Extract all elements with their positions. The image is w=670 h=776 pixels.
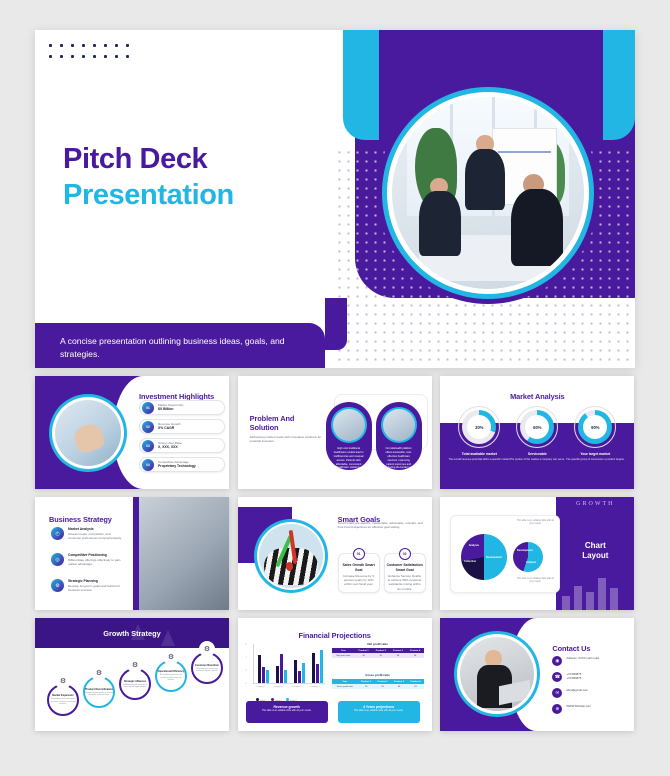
dartboard-photo [259,524,323,588]
smart-goal-card[interactable]: 01 Sales Growth Smart Goal Increase Reve… [338,553,380,593]
business-item-desc: Assess trends, competition, and consumer… [68,532,123,541]
problem-title-main: Problem And [250,414,324,423]
contact-row-address[interactable]: ◉ Address: XXXX main road. [552,656,599,666]
chart-layout-purple-panel: GROWTH Chart Layout [556,497,634,610]
growth-step[interactable]: ⚙ Product Diversification Introducing ne… [83,676,115,708]
contact-person-photo [460,637,534,711]
card-label: Customer Satisfaction Smart Goal [385,563,425,573]
growth-step[interactable]: ⚙ Strategic Alliances Collaborating with… [119,668,151,700]
contact-website-text: WWW.Website.com [566,704,591,708]
pie-label: Analysis [526,561,536,564]
donut-label-group: Serviceable The portion of the market a … [506,452,568,462]
financial-title-accent: Projections [332,631,371,640]
contact-title-accent: Us [581,644,590,653]
card-number-badge: 02 [399,548,411,560]
hero-cyan-right-shape [603,30,635,140]
globe-icon: ⊕ [552,704,562,714]
chart-layout-card: Development Analysis Collection Developm… [450,515,560,593]
hero-caption: A concise presentation outlining busines… [35,323,325,368]
y-tick-label: 4 [246,657,247,659]
step-desc: Collaborating with partners to boost gro… [121,684,149,689]
donut-label: Your target market [564,452,626,456]
item-value: X, XXX, XXX [158,445,182,450]
cta-desc: This slide is an editable slide with all… [338,710,420,713]
card-number-badge: 01 [353,548,365,560]
hero-photo-ring-white [387,92,589,294]
donut-chart-your-target-market: 90% [578,410,612,444]
pie-label: Analysis [469,544,479,547]
gross-profit-ratio-table: Gross profit ratio Year Product 1 Produc… [332,673,424,689]
slide-market-analysis[interactable]: Market Analysis 30% 60% 90% Total availa… [440,376,634,489]
investment-growth-photo [55,400,121,466]
gear-icon: ⚙ [55,673,71,689]
problem-title-block: Problem And Solution Addressing market n… [250,414,324,444]
decorative-bar-chart [562,566,618,610]
smart-goals-photo-ring [254,519,328,593]
hero-slide[interactable]: Pitch Deck Presentation A concise presen… [35,30,635,368]
cta-desc: This slide is an editable slide with all… [246,710,328,713]
hero-purple-tab-shape [325,298,347,350]
table-row: Net profit ratio 30 35 48 56 [332,653,424,658]
list-item[interactable]: 04 Competitive Advantage Proprietary Tec… [139,457,225,472]
contact-phone-text: +XXX89875 +XXX89875 [566,672,581,680]
solution-card-text: Our telehealth platform offers accessibl… [381,447,417,474]
item-value: Proprietary Technology [158,464,196,469]
contact-details-list: ◉ Address: XXXX main road. ☎ +XXX89875 +… [552,656,599,720]
table-cell: 56 [406,653,423,658]
market-title-accent: Analysis [535,392,565,401]
donut-label: Serviceable [506,452,568,456]
problem-subtitle: Addressing market needs with innovative … [250,435,324,444]
contact-title: Contact Us [552,638,590,656]
step-desc: Retaining loyal customers sustains long-… [193,668,221,673]
step-label: Customer Retention [195,664,219,667]
contact-row-website[interactable]: ⊕ WWW.Website.com [552,704,599,714]
chart-layout-title-line1: Chart [585,541,606,550]
chart-note-bottom: This slide is an editable slide with all… [515,578,555,585]
item-number-badge: 04 [142,459,154,471]
table-cell: 48 [389,653,406,658]
gear-icon: ⚙ [127,657,143,673]
business-item[interactable]: ◎ Competitive Positioning Differentiate … [51,553,123,566]
slide-thumbnail-grid: Investment Highlights 01 Market Opportun… [35,376,635,731]
table-cell: 53 [407,684,423,689]
donut-chart-serviceable: 60% [520,410,554,444]
hero-photo-ring-cyan [382,87,594,299]
pie-chart-small: Development Analysis [513,542,543,572]
x-tick-label: Category 2 [274,686,284,688]
business-item[interactable]: ◴ Market Analysis Assess trends, competi… [51,527,123,540]
y-tick-label: 6 [246,644,247,646]
slide-financial-projections[interactable]: Financial Projections Category 1 Categor… [238,618,432,731]
contact-row-email[interactable]: ✉ abcd@gmail.com [552,688,599,698]
gear-icon: ⚙ [163,649,179,665]
contact-title-main: Contact [552,644,581,653]
growth-watermark: GROWTH [556,501,634,507]
table-cell: 26 [374,684,390,689]
gear-icon: ⚙ [199,641,215,657]
list-item[interactable]: 01 Market Opportunity $X Billion [139,400,225,415]
plan-icon: ⚙ [51,579,64,592]
donut-label-group: Total available market The overall reven… [448,452,510,462]
presentation-template-preview: Pitch Deck Presentation A concise presen… [0,0,670,776]
step-desc: Expanding into new markets increases cus… [49,698,77,705]
donut-chart-total-available-market: 30% [462,410,496,444]
smart-goals-subtitle: Smart Goals are specific, measurable, ac… [338,521,424,530]
list-item[interactable]: 02 Revenue Growth X% CAGR [139,419,225,434]
y-tick-label: 2 [246,670,247,672]
pie-chart-large: Development Analysis Collection [461,534,507,580]
problem-card-text: High cost traditional healthcare models … [331,447,367,470]
hero-cyan-left-shape [343,30,379,140]
dot-pattern-decoration [45,40,135,60]
market-title: Market Analysis [440,386,634,404]
slide-smart-goals[interactable]: Smart Goals Smart Goals are specific, me… [238,497,432,610]
location-pin-icon: ◉ [552,656,562,666]
growth-step[interactable]: ⚙ Operational Efficiency Streamlining pr… [155,660,187,692]
x-tick-label: Category 3 [292,686,302,688]
business-item[interactable]: ⚙ Strategic Planning Develop long-term g… [51,579,123,592]
chart-note-top: This slide is an editable slide with all… [515,520,555,527]
growth-step[interactable]: ⚙ Market Expansion Expanding into new ma… [47,684,79,716]
table-cell: Net profit ratio [332,653,355,658]
business-title-main: Business [49,515,83,524]
target-icon: ◎ [51,553,64,566]
donut-desc: The portion of the market a company can … [506,458,568,462]
solution-photo [383,409,415,441]
pie-label: Development [517,549,533,552]
chart-layout-title: Chart Layout [556,541,634,562]
phone-icon: ☎ [552,672,562,682]
cta-label: Revenue growth [246,705,328,709]
contact-row-phone[interactable]: ☎ +XXX89875 +XXX89875 [552,672,599,682]
card-label: Sales Growth Smart Goal [339,563,379,573]
hero-photo-ring-outer [377,82,599,304]
four-years-projections-cta[interactable]: 4 Years projections This slide is an edi… [338,701,420,723]
investment-item-list: 01 Market Opportunity $X Billion 02 Reve… [139,400,225,476]
financial-title-main: Financial [299,631,332,640]
x-tick-label: Category 1 [256,686,266,688]
business-item-desc: Develop long-term goals and tactics for … [68,584,123,593]
chart-icon: ◴ [51,527,64,540]
table-cell: 35 [372,653,389,658]
smart-goal-card[interactable]: 02 Customer Satisfaction Smart Goal Enha… [384,553,426,593]
card-desc: Increase Revenue by X percent yearly by … [339,574,379,587]
contact-email-text: abcd@gmail.com [566,688,588,692]
chart-layout-title-line2: Layout [582,551,608,560]
list-item[interactable]: 03 Strong User Base X, XXX, XXX [139,438,225,453]
donut-desc: The specific group of consumers a produc… [564,458,626,462]
table-row: Gross profit ratio 20 26 48 53 [332,684,424,689]
financial-bar-chart: Category 1 Category 2 Category 3 Categor… [246,640,326,692]
pie-label: Collection [464,560,476,563]
item-number-badge: 03 [142,440,154,452]
business-team-photo [123,497,229,610]
card-desc: Enhance Service Quality to achieve 95% c… [385,574,425,591]
solution-card[interactable]: Our telehealth platform offers accessibl… [376,402,422,470]
hero-title: Pitch Deck Presentation [63,142,234,214]
item-number-badge: 01 [142,402,154,414]
step-desc: Streamlining processes for excellent pro… [157,674,185,681]
market-title-main: Market [510,392,535,401]
table-cell: 30 [355,653,372,658]
donut-label: Total available market [448,452,510,456]
problem-title-accent: Solution [250,423,324,432]
cta-label: 4 Years projections [338,705,420,709]
contact-photo-ring [454,631,540,717]
hero-title-line1: Pitch Deck [63,142,234,178]
slide-problem-and-solution[interactable]: Problem And Solution Addressing market n… [238,376,432,489]
table-cell: 20 [358,684,374,689]
contact-address-text: Address: XXXX main road. [566,656,599,660]
mail-icon: ✉ [552,688,562,698]
growth-step[interactable]: ⚙ Customer Retention Retaining loyal cus… [191,652,223,684]
hero-meeting-photo [392,97,584,289]
x-tick-label: Category 4 [310,686,320,688]
item-number-badge: 02 [142,421,154,433]
business-title-accent: Strategy [83,515,112,524]
business-item-desc: Differentiate offerings effectively to g… [68,558,123,567]
investment-photo-ring [49,394,127,472]
step-desc: Introducing new products attracts a broa… [85,692,113,697]
revenue-growth-cta[interactable]: Revenue growth This slide is an editable… [246,701,328,723]
donut-desc: The overall revenue potential within a s… [448,458,510,462]
problem-photo [333,409,365,441]
slide-business-strategy[interactable]: Business Strategy ◴ Market Analysis Asse… [35,497,229,610]
y-tick-label: 0 [246,683,247,685]
slide-contact-us[interactable]: Contact Us ◉ Address: XXXX main road. ☎ … [440,618,634,731]
slide-chart-layout[interactable]: GROWTH Chart Layout Development Analysis… [440,497,634,610]
item-value: $X Billion [158,407,184,412]
step-label: Product Diversification [85,688,112,691]
step-label: Strategic Alliances [124,680,146,683]
business-title: Business Strategy [49,509,112,527]
hero-title-line2: Presentation [63,178,234,214]
net-profit-ratio-table: Net profit ratio Year Product 1 Product … [332,642,424,658]
problem-card[interactable]: High cost traditional healthcare models … [326,402,372,470]
hero-right-panel [325,30,635,368]
slide-growth-strategy[interactable]: Growth Strategy ⚙ Market Expansion Expan… [35,618,229,731]
table-cell: Gross profit ratio [332,684,358,689]
gear-icon: ⚙ [91,665,107,681]
table-cell: 48 [391,684,407,689]
pie-label: Development [486,556,502,559]
step-label: Operational Efficiency [158,670,184,673]
step-label: Market Expansion [52,694,73,697]
item-value: X% CAGR [158,426,181,431]
slide-investment-highlights[interactable]: Investment Highlights 01 Market Opportun… [35,376,229,489]
donut-label-group: Your target market The specific group of… [564,452,626,462]
